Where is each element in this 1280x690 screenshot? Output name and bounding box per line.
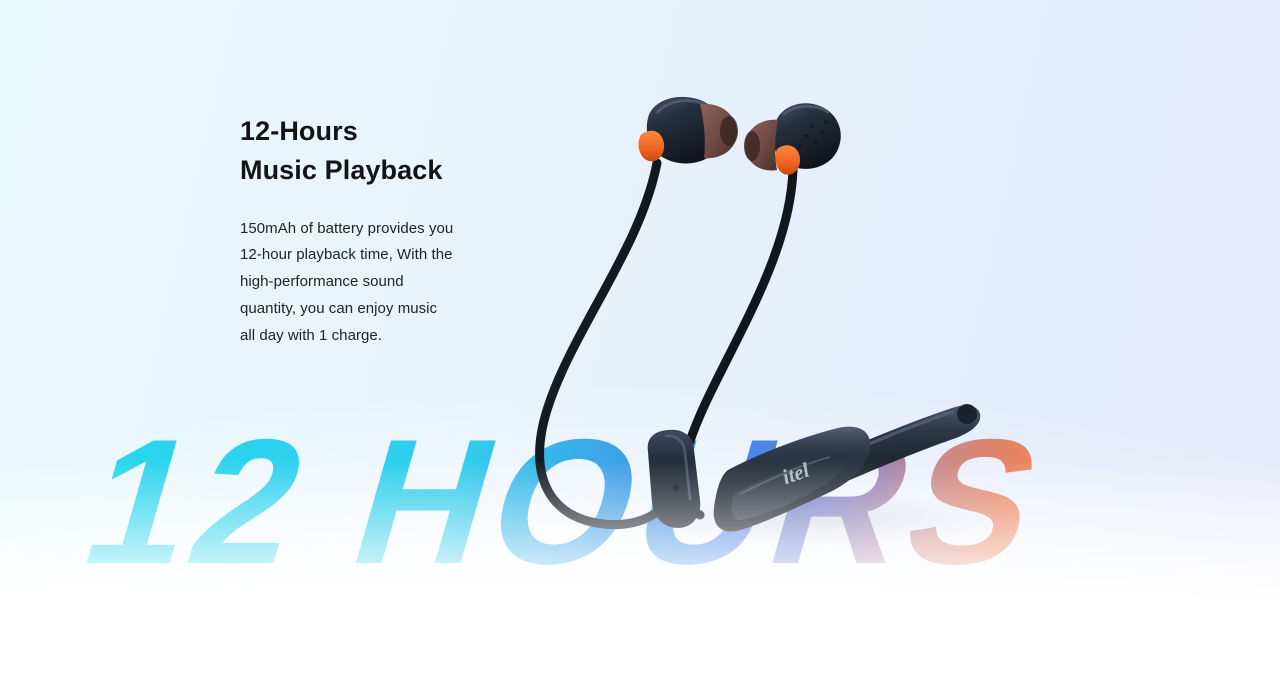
page-title: 12-Hours Music Playback [240,112,540,190]
body-line: high-performance sound [240,269,540,296]
right-orange-accent [775,145,800,174]
hero-banner: 12 HOURS [0,0,1280,690]
right-earbud [744,103,841,175]
body-line: all day with 1 charge. [240,323,540,350]
copy-block: 12-Hours Music Playback 150mAh of batter… [240,112,540,349]
body-line: quantity, you can enjoy music [240,296,540,323]
display-text-12-hours: 12 HOURS [0,415,1280,625]
body-line: 150mAh of battery provides you [240,216,540,243]
body-copy: 150mAh of battery provides you 12-hour p… [240,216,540,349]
left-orange-accent [638,131,664,162]
headline-line-1: 12-Hours [240,112,540,151]
headline-line-2: Music Playback [240,151,540,190]
body-line: 12-hour playback time, With the [240,242,540,269]
left-earbud [638,97,738,164]
